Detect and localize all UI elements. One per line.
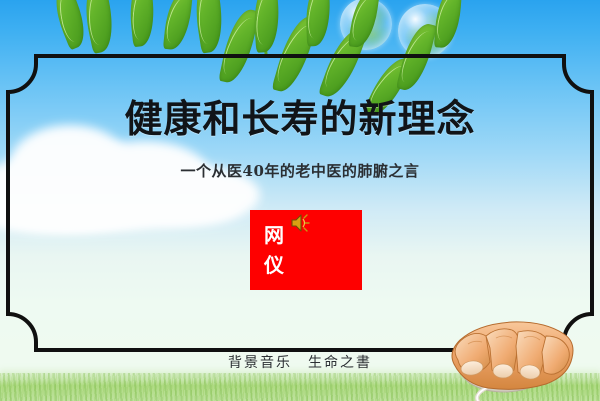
speaker-icon[interactable] bbox=[290, 212, 316, 234]
media-object-char-2: 仪 bbox=[264, 255, 284, 275]
media-object-char-1: 网 bbox=[264, 225, 284, 245]
leaf-icon bbox=[163, 0, 193, 51]
leaf-icon bbox=[127, 0, 158, 47]
leaf-icon bbox=[218, 6, 259, 86]
hand-on-mouse-graphic bbox=[424, 300, 600, 401]
slide-title: 健康和长寿的新理念 bbox=[0, 88, 600, 143]
background-music-label: 背景音乐 bbox=[228, 355, 292, 371]
background-music-title: 生命之書 bbox=[308, 355, 372, 371]
leaf-icon bbox=[79, 0, 119, 54]
slide-subtitle: 一个从医40年的老中医的肺腑之言 bbox=[0, 160, 600, 181]
leaf-icon bbox=[305, 0, 331, 46]
leaf-icon bbox=[252, 0, 282, 53]
presentation-slide: 健康和长寿的新理念 一个从医40年的老中医的肺腑之言 网 仪 背景音乐生命之書 bbox=[0, 0, 600, 401]
leaf-icon bbox=[434, 0, 462, 49]
leaf-icon bbox=[190, 0, 227, 54]
embedded-media-object[interactable]: 网 仪 bbox=[250, 210, 362, 290]
